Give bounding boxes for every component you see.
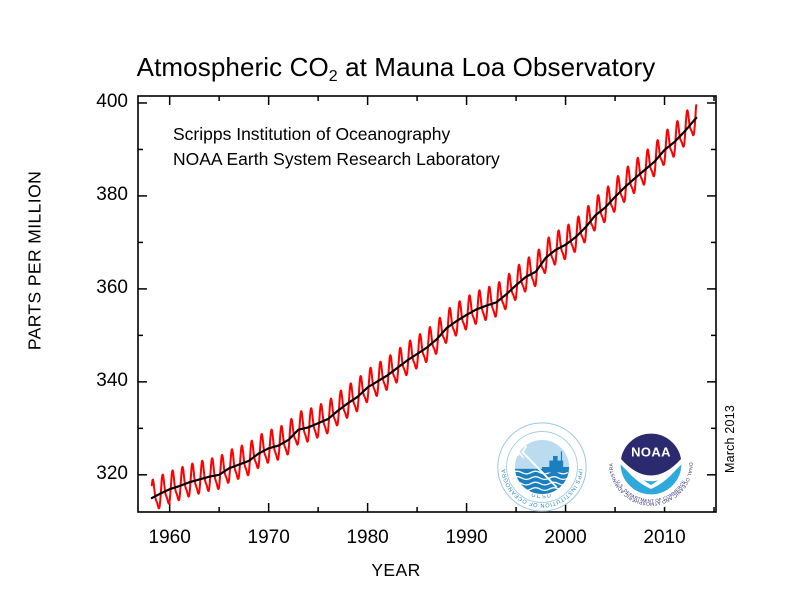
y-tick-label: 380 [42, 184, 128, 206]
y-tick-label: 360 [42, 277, 128, 299]
scripps-logo: SCRIPPS INSTITUTION OF OCEANOGRAPHY UCSD [496, 421, 588, 513]
noaa-logo: NATIONAL OCEANIC AND ATMOSPHERIC ADMINIS… [603, 416, 699, 512]
y-tick-label: 340 [42, 370, 128, 392]
y-tick-label: 400 [42, 91, 128, 113]
x-tick-label: 1970 [219, 527, 319, 549]
x-tick-label: 1990 [417, 527, 517, 549]
y-tick-label: 320 [42, 463, 128, 485]
chart-canvas: Atmospheric CO2 at Mauna Loa Observatory… [0, 0, 792, 612]
x-tick-label: 1960 [120, 527, 220, 549]
x-tick-label: 2010 [615, 527, 715, 549]
noaa-wordmark: NOAA [631, 444, 671, 459]
x-tick-label: 1980 [318, 527, 418, 549]
x-tick-label: 2000 [516, 527, 616, 549]
